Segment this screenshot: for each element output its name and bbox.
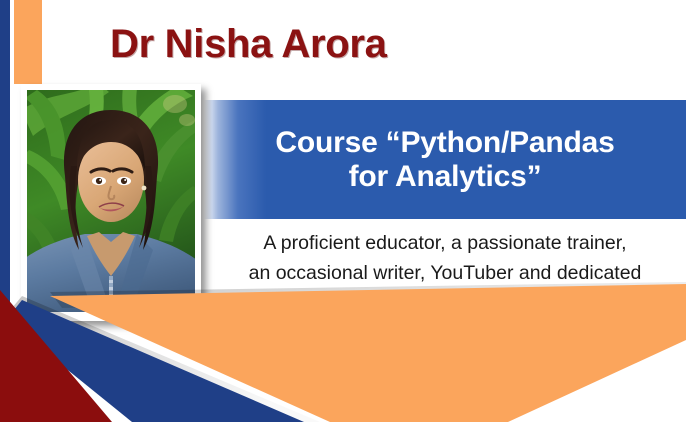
course-title-banner: Course “Python/Pandas for Analytics”: [204, 100, 686, 219]
bottom-diagonal-decoration: [0, 282, 686, 422]
page-title: Dr Nisha Arora: [110, 22, 387, 67]
course-title-text: Course “Python/Pandas for Analytics”: [261, 126, 628, 193]
portrait-illustration: [27, 90, 195, 312]
description-line-1: A proficient educator, a passionate trai…: [206, 229, 684, 259]
avatar: [27, 90, 195, 312]
course-title-line-1: Course “Python/Pandas: [275, 126, 614, 160]
left-navy-accent-bar: [0, 0, 10, 318]
diagonal-bands-graphic: [0, 282, 686, 422]
slide-canvas: Dr Nisha Arora: [0, 0, 686, 422]
course-title-line-2: for Analytics”: [275, 160, 614, 194]
left-orange-accent-bar: [14, 0, 42, 84]
